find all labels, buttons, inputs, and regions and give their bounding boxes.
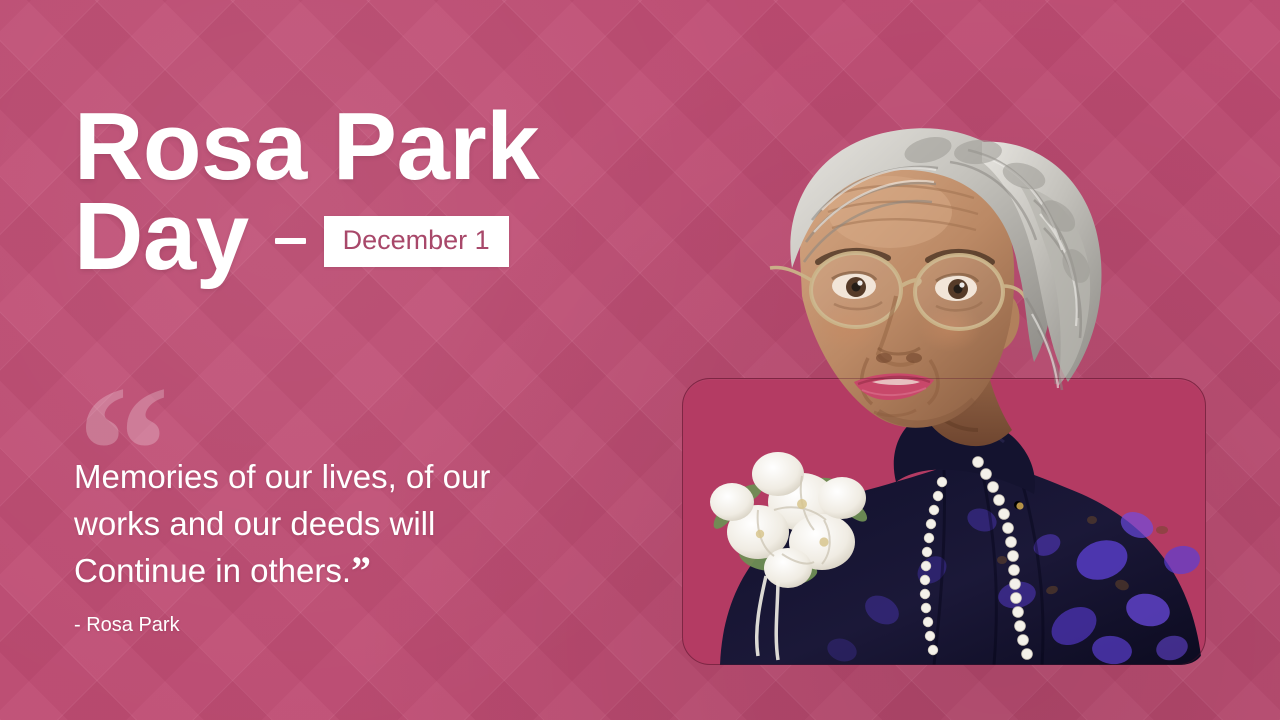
page-title-line-2: Day <box>74 190 249 284</box>
portrait-area <box>682 90 1206 665</box>
quote-attribution: - Rosa Park <box>74 615 544 635</box>
closing-quote-icon: ” <box>351 548 371 593</box>
quote-text: Memories of our lives, of our works and … <box>74 392 544 595</box>
title-separator-dash <box>275 238 306 244</box>
portrait-image <box>682 90 1206 665</box>
page-title-line-1: Rosa Park <box>74 100 674 194</box>
slide-rosa-park-day: Rosa Park Day December 1 “ Memories of o… <box>0 0 1280 720</box>
portrait-image-clip <box>682 90 1206 665</box>
title-block: Rosa Park Day December 1 <box>74 100 674 284</box>
title-row-secondary: Day December 1 <box>74 190 674 284</box>
quote-block: “ Memories of our lives, of our works an… <box>74 392 544 635</box>
quote-body: Memories of our lives, of our works and … <box>74 458 490 589</box>
date-badge: December 1 <box>324 216 509 267</box>
